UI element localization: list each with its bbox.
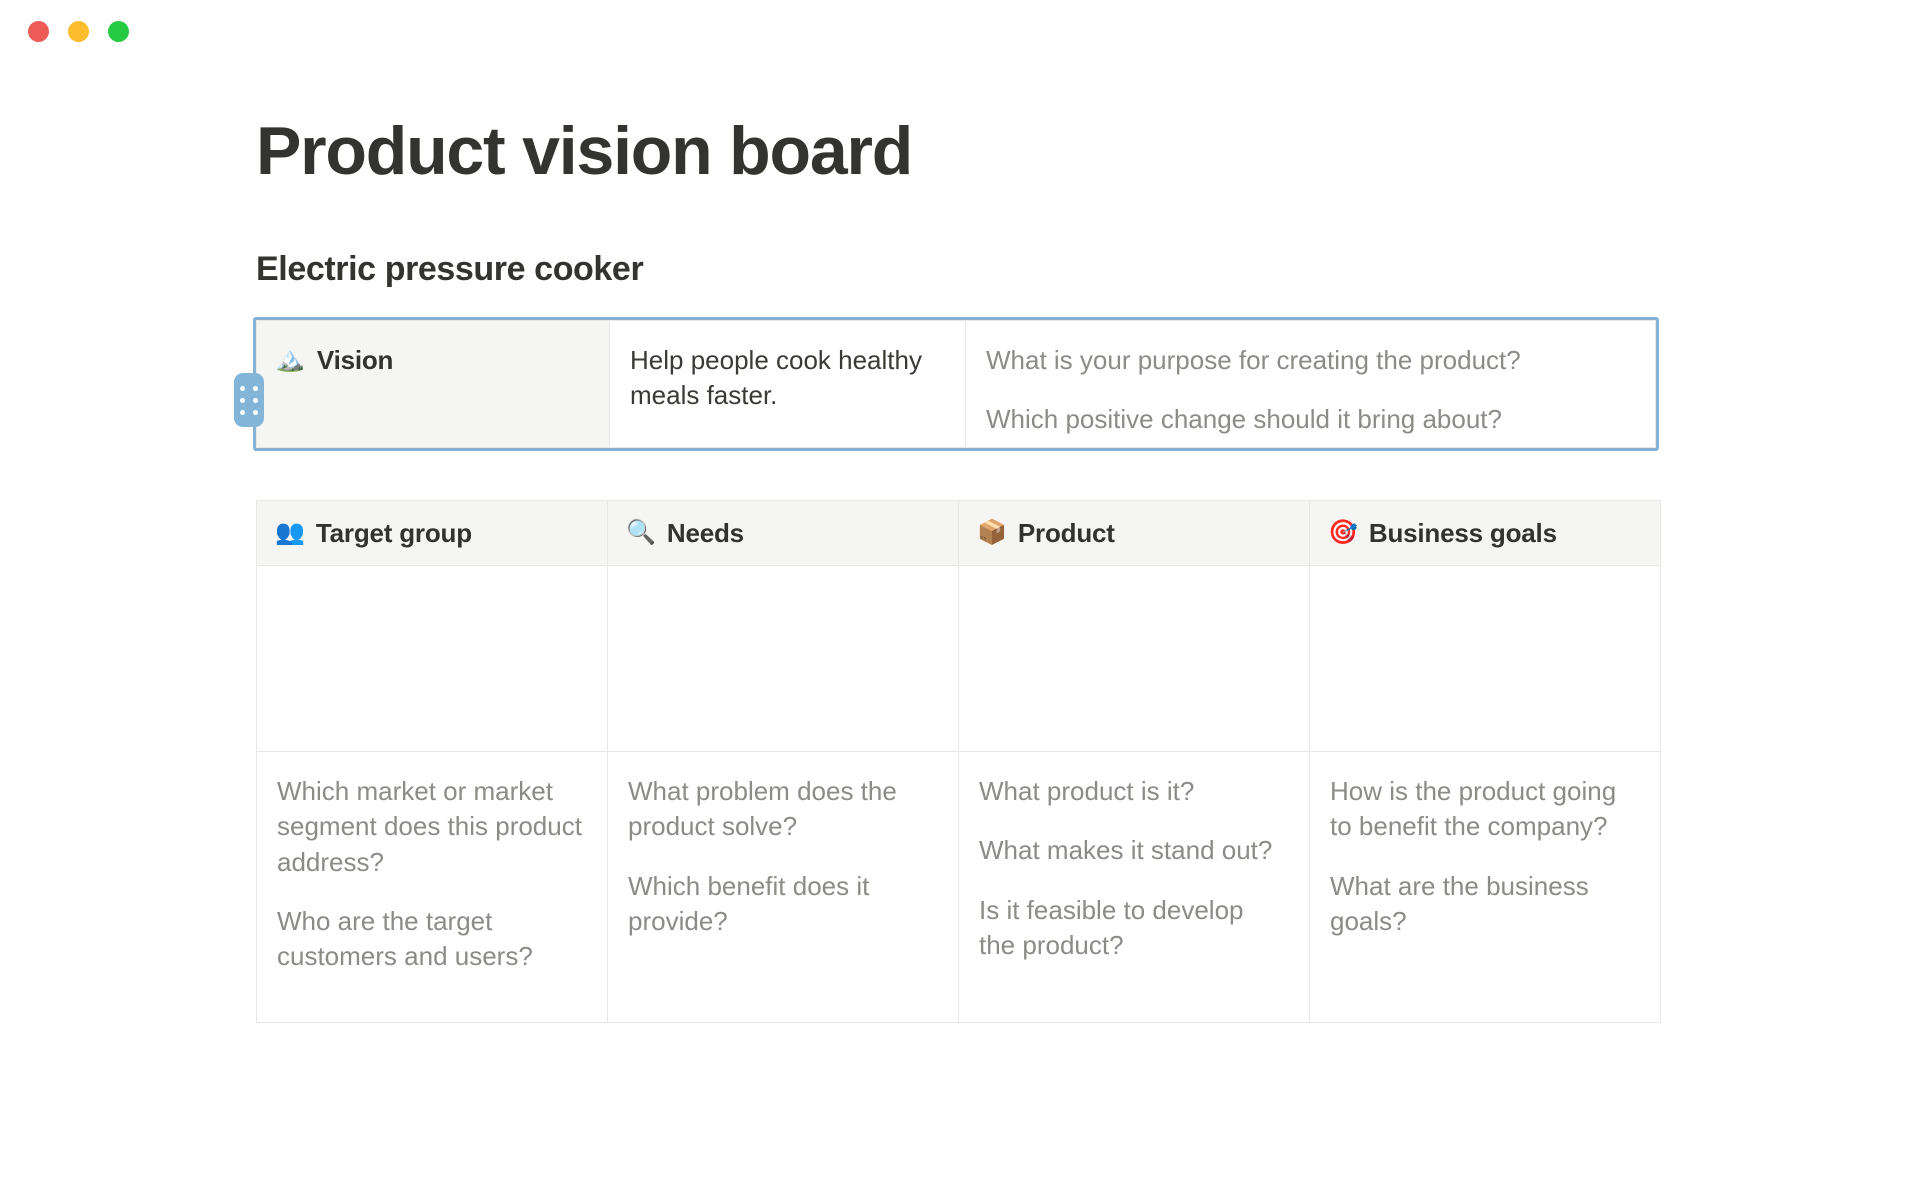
hint-cell-needs[interactable]: What problem does the product solve? Whi… (608, 752, 959, 1023)
value-cell-product[interactable] (959, 566, 1310, 752)
column-header-target-group[interactable]: 👥 Target group (257, 501, 608, 566)
vision-label: Vision (317, 345, 393, 376)
drag-dot (240, 398, 245, 403)
hint-cell-target-group[interactable]: Which market or market segment does this… (257, 752, 608, 1023)
hint-text: Which market or market segment does this… (277, 774, 583, 880)
vision-label-cell[interactable]: 🏔️ Vision (257, 321, 610, 448)
value-cell-text (959, 566, 1309, 749)
vision-hint-text: Which positive change should it bring ab… (986, 402, 1633, 437)
hint-text: What makes it stand out? (979, 833, 1285, 868)
document-body: Product vision board Electric pressure c… (0, 62, 1920, 1023)
maximize-window-button[interactable] (108, 21, 129, 42)
hint-cell-product[interactable]: What product is it? What makes it stand … (959, 752, 1310, 1023)
value-cell-text (257, 566, 607, 749)
column-header-label: Business goals (1369, 518, 1557, 549)
vision-hint-cell[interactable]: What is your purpose for creating the pr… (966, 321, 1656, 448)
direct-hit-icon: 🎯 (1328, 521, 1358, 545)
package-icon: 📦 (977, 521, 1007, 545)
minimize-window-button[interactable] (68, 21, 89, 42)
snow-capped-mountain-icon: 🏔️ (275, 345, 305, 375)
hint-text: Which benefit does it provide? (628, 869, 934, 940)
column-header-label: Product (1018, 518, 1115, 549)
hint-text: What product is it? (979, 774, 1285, 809)
column-header-needs[interactable]: 🔍 Needs (608, 501, 959, 566)
value-cell-business-goals[interactable] (1310, 566, 1661, 752)
hint-text: Who are the target customers and users? (277, 904, 583, 975)
page-subtitle: Electric pressure cooker (256, 185, 1880, 286)
value-cell-needs[interactable] (608, 566, 959, 752)
magnifying-glass-icon: 🔍 (626, 521, 656, 545)
hint-text: What are the business goals? (1330, 869, 1636, 940)
drag-dot (253, 386, 258, 391)
value-cell-text (608, 566, 958, 749)
column-header-label: Needs (667, 518, 744, 549)
page-title: Product vision board (256, 62, 1880, 185)
vision-table-wrapper[interactable]: 🏔️ Vision Help people cook healthy meals… (256, 320, 1656, 448)
hint-text: Is it feasible to develop the product? (979, 893, 1285, 964)
vision-table: 🏔️ Vision Help people cook healthy meals… (256, 320, 1656, 448)
column-header-label: Target group (316, 518, 472, 549)
table-row[interactable]: 🏔️ Vision Help people cook healthy meals… (257, 321, 1656, 448)
quadrant-table: 👥 Target group 🔍 Needs 📦 Produc (256, 500, 1661, 1023)
hint-text: How is the product going to benefit the … (1330, 774, 1636, 845)
traffic-light-group (28, 21, 129, 42)
vision-value-cell[interactable]: Help people cook healthy meals faster. (610, 321, 966, 448)
drag-dot (240, 386, 245, 391)
column-header-product[interactable]: 📦 Product (959, 501, 1310, 566)
busts-in-silhouette-icon: 👥 (275, 521, 305, 545)
drag-dot (253, 398, 258, 403)
window-titlebar (0, 0, 1920, 62)
column-header-business-goals[interactable]: 🎯 Business goals (1310, 501, 1661, 566)
table-row[interactable]: Which market or market segment does this… (257, 752, 1661, 1023)
drag-dot (240, 410, 245, 415)
hint-text: What problem does the product solve? (628, 774, 934, 845)
value-cell-text (1310, 566, 1660, 749)
vision-value-text: Help people cook healthy meals faster. (630, 343, 943, 414)
hint-cell-business-goals[interactable]: How is the product going to benefit the … (1310, 752, 1661, 1023)
vision-hint-text: What is your purpose for creating the pr… (986, 343, 1633, 378)
table-header-row: 👥 Target group 🔍 Needs 📦 Produc (257, 501, 1661, 566)
drag-dot (253, 410, 258, 415)
close-window-button[interactable] (28, 21, 49, 42)
row-drag-handle[interactable] (234, 373, 264, 427)
value-cell-target-group[interactable] (257, 566, 608, 752)
table-row[interactable] (257, 566, 1661, 752)
quadrant-table-wrapper: 👥 Target group 🔍 Needs 📦 Produc (256, 500, 1656, 1023)
